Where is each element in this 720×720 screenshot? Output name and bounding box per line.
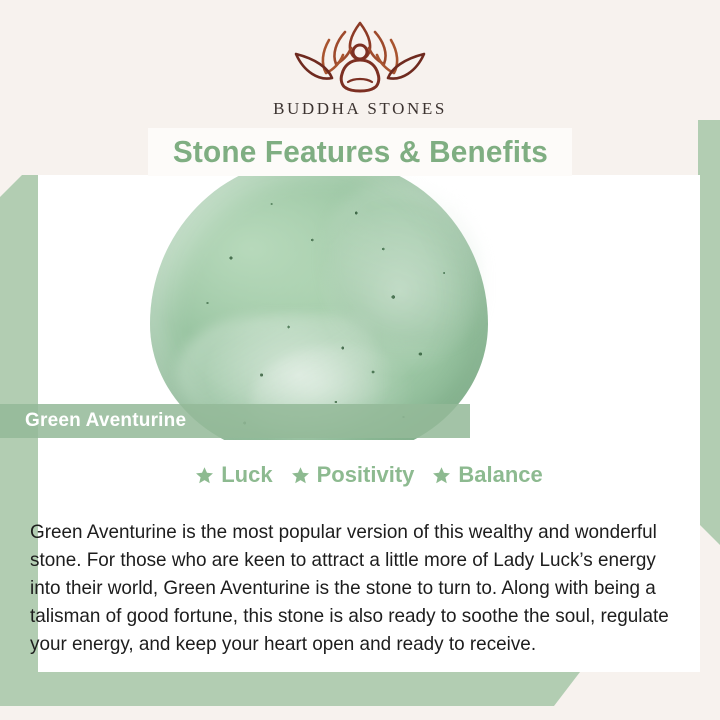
benefit-label: Balance (458, 462, 542, 488)
stone-description: Green Aventurine is the most popular ver… (30, 519, 685, 659)
decorative-frame-right (698, 120, 720, 545)
decorative-frame-bottom (0, 672, 580, 706)
star-icon (432, 466, 451, 485)
benefits-row: Luck Positivity Balance (38, 462, 700, 488)
stone-speckle-texture (150, 175, 488, 440)
benefit-label: Luck (221, 462, 272, 488)
star-icon (291, 466, 310, 485)
benefit-item-positivity: Positivity (291, 462, 415, 488)
benefit-label: Positivity (317, 462, 415, 488)
stone-name-label: Green Aventurine (25, 410, 186, 432)
benefit-item-balance: Balance (432, 462, 542, 488)
green-aventurine-stone-image (150, 175, 488, 440)
brand-logo: BUDDHA STONES (0, 18, 720, 119)
star-icon (195, 466, 214, 485)
lotus-meditation-icon (274, 18, 446, 96)
stone-name-band: Green Aventurine (0, 404, 470, 438)
stone-features-infographic: BUDDHA STONES Stone Features & Benefits … (0, 0, 720, 720)
section-title-band: Stone Features & Benefits (148, 128, 572, 176)
brand-name: BUDDHA STONES (0, 99, 720, 119)
stone-photo (38, 175, 700, 440)
page-title: Stone Features & Benefits (172, 134, 547, 170)
benefit-item-luck: Luck (195, 462, 272, 488)
